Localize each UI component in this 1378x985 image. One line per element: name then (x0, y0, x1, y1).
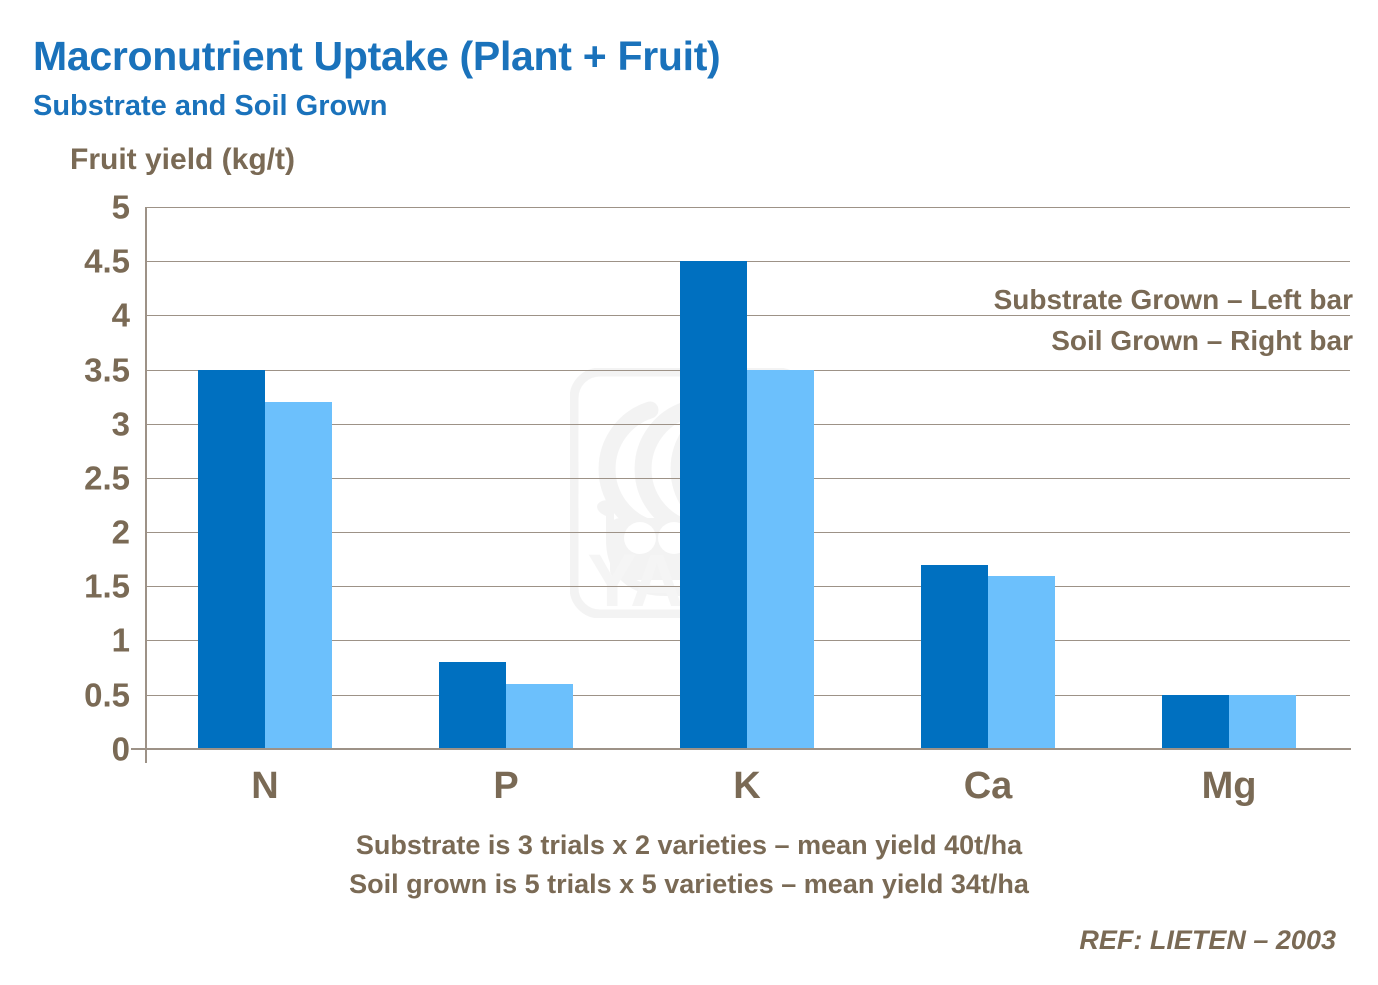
gridline-4.5 (145, 261, 1350, 262)
y-tick-4: 4 (40, 299, 130, 332)
gridline-5 (145, 207, 1350, 208)
y-tick-5: 5 (40, 191, 130, 224)
y-tick-4.5: 4.5 (40, 245, 130, 278)
chart-page: Macronutrient Uptake (Plant + Fruit) Sub… (0, 0, 1378, 985)
legend-item-soil: Soil Grown – Right bar (994, 321, 1353, 362)
y-axis-title: Fruit yield (kg/t) (70, 143, 295, 177)
x-tick-P: P (493, 765, 518, 808)
x-tick-K: K (733, 765, 760, 808)
bar-soil-N (265, 402, 332, 749)
y-tick-3: 3 (40, 408, 130, 441)
bar-soil-Mg (1229, 695, 1296, 749)
page-subtitle: Substrate and Soil Grown (33, 90, 388, 123)
footnotes: Substrate is 3 trials x 2 varieties – me… (0, 826, 1378, 904)
footnote-substrate: Substrate is 3 trials x 2 varieties – me… (0, 826, 1378, 865)
bar-substrate-P (439, 662, 506, 749)
y-tick-2.5: 2.5 (40, 462, 130, 495)
y-tick-0: 0 (40, 733, 130, 766)
bar-soil-Ca (988, 576, 1055, 749)
bar-substrate-N (198, 370, 265, 749)
bar-soil-K (747, 370, 814, 749)
y-tick-1.5: 1.5 (40, 570, 130, 603)
x-tick-Ca: Ca (964, 765, 1013, 808)
x-tick-Mg: Mg (1202, 765, 1257, 808)
legend-item-substrate: Substrate Grown – Left bar (994, 280, 1353, 321)
reference-note: REF: LIETEN – 2003 (1079, 925, 1336, 956)
bar-substrate-Mg (1162, 695, 1229, 749)
footnote-soil: Soil grown is 5 trials x 5 varieties – m… (0, 865, 1378, 904)
y-axis-line (145, 207, 147, 763)
legend: Substrate Grown – Left bar Soil Grown – … (994, 280, 1353, 361)
y-tick-1: 1 (40, 624, 130, 657)
x-axis-line (131, 748, 1351, 750)
bar-soil-P (506, 684, 573, 749)
y-tick-3.5: 3.5 (40, 354, 130, 387)
y-tick-0.5: 0.5 (40, 679, 130, 712)
bar-substrate-K (680, 261, 747, 749)
x-tick-N: N (251, 765, 278, 808)
page-title: Macronutrient Uptake (Plant + Fruit) (33, 33, 720, 80)
bar-substrate-Ca (921, 565, 988, 749)
y-tick-2: 2 (40, 516, 130, 549)
